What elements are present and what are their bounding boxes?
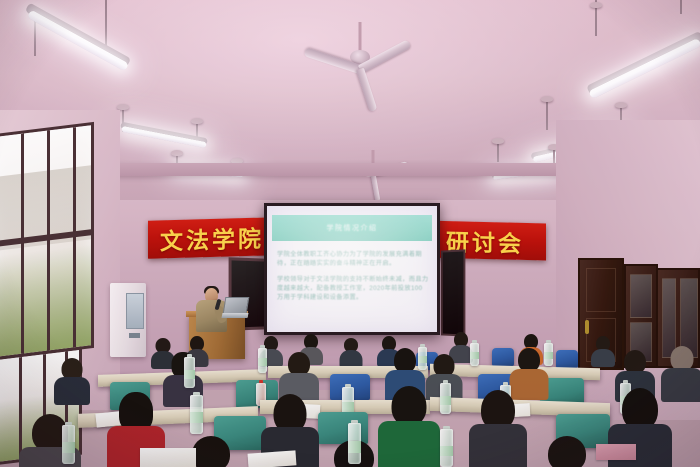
water-bottle[interactable] (190, 392, 203, 434)
laptop-keyboard[interactable] (221, 313, 248, 318)
window-upper-left (0, 122, 94, 360)
water-bottle[interactable] (544, 340, 553, 366)
water-tap[interactable] (129, 333, 140, 338)
attendee (282, 352, 316, 398)
attendee (474, 390, 522, 467)
handout-paper[interactable] (140, 448, 196, 467)
projection-screen: 学院情况介绍 学院全体教职工齐心协力为了学院的发展充满着期待，正在踏踏实实的奋斗… (267, 206, 437, 332)
attendee (340, 338, 362, 366)
slide-paragraph-1: 学院全体教职工齐心协力为了学院的发展充满着期待，正在踏踏实实的奋斗精神正在开启。 (277, 250, 429, 268)
water-bottle[interactable] (258, 345, 267, 373)
slide-body: 学院全体教职工齐心协力为了学院的发展充满着期待，正在踏踏实实的奋斗精神正在开启。… (277, 250, 429, 309)
attendee (592, 336, 614, 364)
handout-paper[interactable] (596, 444, 636, 460)
attendee (664, 346, 700, 396)
laptop-screen[interactable] (223, 297, 250, 314)
water-bottle[interactable] (440, 426, 453, 467)
door-handle[interactable] (585, 320, 589, 334)
water-bottle[interactable] (418, 344, 427, 370)
chair[interactable] (492, 348, 514, 366)
slide-header-bar: 学院情况介绍 (272, 215, 432, 241)
attendee (384, 386, 434, 467)
water-bottle[interactable] (62, 422, 75, 464)
water-bottle[interactable] (470, 340, 479, 366)
blackboard-right (441, 249, 465, 336)
ceiling-fan-front (300, 22, 420, 108)
attendee (512, 348, 546, 394)
attendee (540, 436, 594, 467)
water-bottle[interactable] (184, 354, 195, 388)
projection-screen-frame: 学院情况介绍 学院全体教职工齐心协力为了学院的发展充满着期待，正在踏踏实实的奋斗… (264, 203, 440, 335)
attendee (56, 358, 88, 400)
water-bottle[interactable] (348, 420, 361, 464)
water-bottle[interactable] (440, 380, 451, 414)
slide-paragraph-2: 学校领导对于文法学院的支持不断始终未减，而且力度越来越大，配备教授工作室，202… (277, 275, 429, 302)
slide-header-title: 学院情况介绍 (327, 223, 378, 233)
handout-paper[interactable] (248, 450, 297, 467)
banner-left-text: 文法学院 (160, 220, 264, 257)
chair[interactable] (556, 350, 578, 368)
photo-scene: 文法学院 研讨会 学院情况介绍 学院全体教职工齐心协力为了学院的发展充满着期待，… (0, 0, 700, 467)
banner-left: 文法学院 (148, 217, 276, 259)
water-dispenser[interactable] (110, 283, 146, 357)
